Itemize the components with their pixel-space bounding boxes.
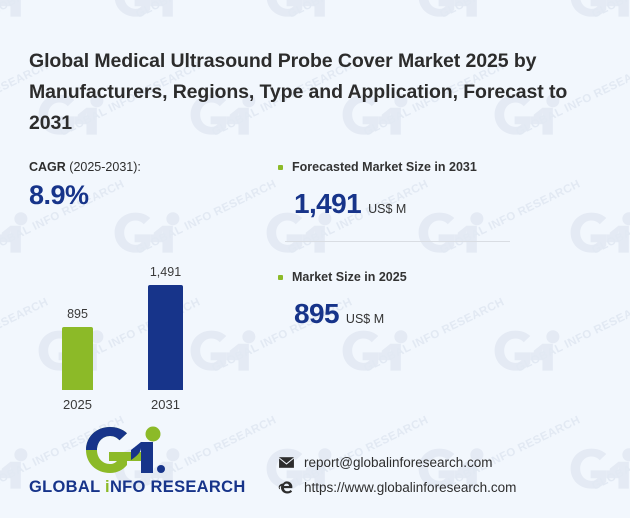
market-size-bar-chart: 895 2025 1,491 2031	[0, 262, 250, 417]
bar-group-2031: 1,491 2031	[148, 285, 183, 390]
bar-value-2025: 895	[67, 307, 88, 321]
stat-forecast-2031: Forecasted Market Size in 2031 1,491 US$…	[278, 160, 608, 242]
cagr-range: (2025-2031):	[66, 160, 141, 174]
watermark-text: GLOBAL INFO RESEARCH	[590, 0, 630, 21]
cagr-label: CAGR	[29, 160, 66, 174]
logo-wordmark: GLOBAL iNFO RESEARCH	[29, 478, 229, 497]
watermark-tile: GLOBAL INFO RESEARCH	[492, 324, 630, 442]
contact-block: report@globalinforesearch.com https://ww…	[278, 450, 516, 500]
bullet-icon	[278, 275, 283, 280]
stat-figure: 895 US$ M	[294, 298, 608, 330]
watermark-text: GLOBAL INFO RESEARCH	[590, 414, 630, 493]
contact-email-row[interactable]: report@globalinforesearch.com	[278, 450, 516, 475]
bar-rect-2025	[62, 327, 93, 390]
logo-text-part2: NFO RESEARCH	[110, 478, 246, 496]
browser-e-icon	[278, 479, 295, 496]
stat-value: 895	[294, 298, 339, 330]
stat-unit: US$ M	[368, 202, 406, 216]
stat-title: Market Size in 2025	[292, 270, 407, 284]
stat-figure: 1,491 US$ M	[294, 188, 608, 220]
watermark-text: GLOBAL INFO RESEARCH	[134, 178, 278, 257]
company-logo: GLOBAL iNFO RESEARCH	[29, 424, 229, 497]
email-text[interactable]: report@globalinforesearch.com	[304, 455, 493, 470]
watermark-text: GLOBAL INFO RESEARCH	[0, 0, 126, 21]
cagr-value: 8.9%	[29, 180, 141, 211]
watermark-text: GLOBAL INFO RESEARCH	[134, 0, 278, 21]
bar-group-2025: 895 2025	[62, 327, 93, 390]
watermark-tile: GLOBAL INFO RESEARCH	[340, 324, 510, 442]
logo-text-part1: GLOBAL	[29, 478, 105, 496]
section-divider	[285, 241, 510, 242]
stat-unit: US$ M	[346, 312, 384, 326]
cagr-block: CAGR (2025-2031): 8.9%	[29, 160, 141, 211]
contact-website-row[interactable]: https://www.globalinforesearch.com	[278, 475, 516, 500]
watermark-tile: GLOBAL INFO RESEARCH	[568, 442, 630, 518]
market-report-infographic: GLOBAL INFO RESEARCH GLOBAL INFO RESEARC…	[0, 0, 630, 518]
stat-header: Market Size in 2025	[278, 270, 608, 284]
gi-monogram-icon	[83, 424, 175, 476]
bar-rect-2031	[148, 285, 183, 390]
stat-title: Forecasted Market Size in 2031	[292, 160, 477, 174]
bar-value-2031: 1,491	[150, 265, 181, 279]
bar-category-2025: 2025	[63, 397, 92, 412]
watermark-text: GLOBAL INFO RESEARCH	[438, 0, 582, 21]
stat-value: 1,491	[294, 188, 361, 220]
page-title: Global Medical Ultrasound Probe Cover Ma…	[29, 46, 609, 139]
stat-header: Forecasted Market Size in 2031	[278, 160, 608, 174]
bar-category-2031: 2031	[151, 397, 180, 412]
stat-market-2025: Market Size in 2025 895 US$ M	[278, 270, 608, 330]
cagr-label-line: CAGR (2025-2031):	[29, 160, 141, 174]
stats-panel: Forecasted Market Size in 2031 1,491 US$…	[278, 160, 608, 330]
bullet-icon	[278, 165, 283, 170]
envelope-icon	[278, 454, 295, 471]
watermark-text: GLOBAL INFO RESEARCH	[286, 0, 430, 21]
website-text[interactable]: https://www.globalinforesearch.com	[304, 480, 516, 495]
